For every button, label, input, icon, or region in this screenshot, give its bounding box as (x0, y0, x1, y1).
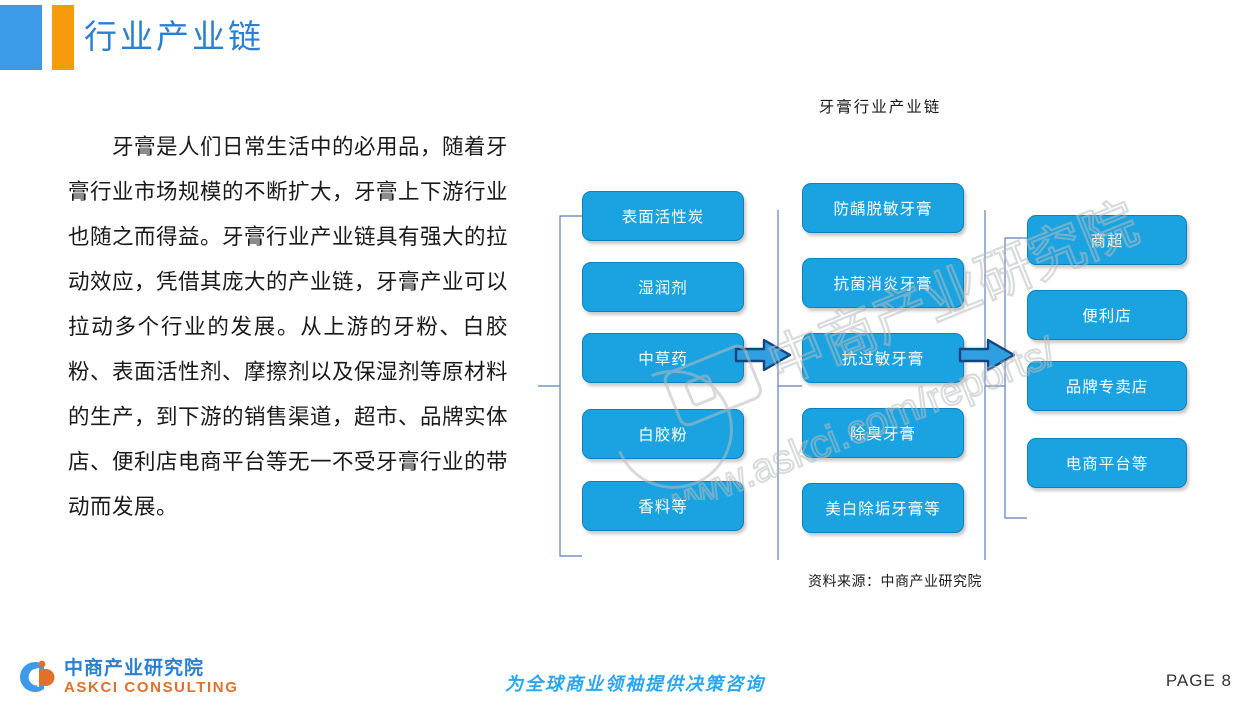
chain-box-downstream-3[interactable]: 品牌专卖店 (1027, 361, 1187, 411)
diagram-title: 牙膏行业产业链 (530, 95, 1230, 117)
footer-slogan: 为全球商业领袖提供决策咨询 (505, 670, 765, 696)
arrow-upstream-to-midstream-icon (734, 337, 792, 373)
chain-box-downstream-1[interactable]: 商超 (1027, 215, 1187, 265)
chain-box-upstream-2[interactable]: 湿润剂 (582, 262, 744, 312)
chain-box-downstream-2[interactable]: 便利店 (1027, 290, 1187, 340)
chain-box-upstream-3[interactable]: 中草药 (582, 333, 744, 383)
page-header: 行业产业链 (0, 0, 1250, 78)
chain-box-midstream-4[interactable]: 除臭牙膏 (802, 408, 964, 458)
industry-chain-diagram: 牙膏行业产业链 表面活性炭 湿润剂 中草药 白胶粉 香料等 防龋脱敏牙膏 抗菌消… (530, 95, 1230, 605)
footer-page-number: PAGE 8 (1166, 671, 1232, 691)
chain-box-downstream-4[interactable]: 电商平台等 (1027, 438, 1187, 488)
chain-box-upstream-5[interactable]: 香料等 (582, 481, 744, 531)
askci-logo-icon (14, 656, 56, 698)
body-paragraph: 牙膏是人们日常生活中的必用品，随着牙膏行业市场规模的不断扩大，牙膏上下游行业也随… (68, 125, 508, 530)
chain-box-midstream-1[interactable]: 防龋脱敏牙膏 (802, 183, 964, 233)
page-title: 行业产业链 (84, 12, 264, 62)
footer-logo-cn: 中商产业研究院 (64, 658, 239, 679)
chain-box-midstream-3[interactable]: 抗过敏牙膏 (802, 333, 964, 383)
header-blue-accent-block (0, 5, 42, 70)
arrow-midstream-to-downstream-icon (958, 337, 1016, 373)
footer-logo-en: ASKCI CONSULTING (64, 679, 239, 697)
chain-box-upstream-4[interactable]: 白胶粉 (582, 409, 744, 459)
chain-box-midstream-5[interactable]: 美白除垢牙膏等 (802, 483, 964, 533)
source-note: 资料来源：中商产业研究院 (808, 571, 982, 591)
chain-box-upstream-1[interactable]: 表面活性炭 (582, 191, 744, 241)
chain-box-midstream-2[interactable]: 抗菌消炎牙膏 (802, 258, 964, 308)
footer-logo-text: 中商产业研究院 ASKCI CONSULTING (64, 658, 239, 697)
header-orange-accent-block (52, 5, 74, 70)
footer-logo: 中商产业研究院 ASKCI CONSULTING (14, 656, 239, 698)
